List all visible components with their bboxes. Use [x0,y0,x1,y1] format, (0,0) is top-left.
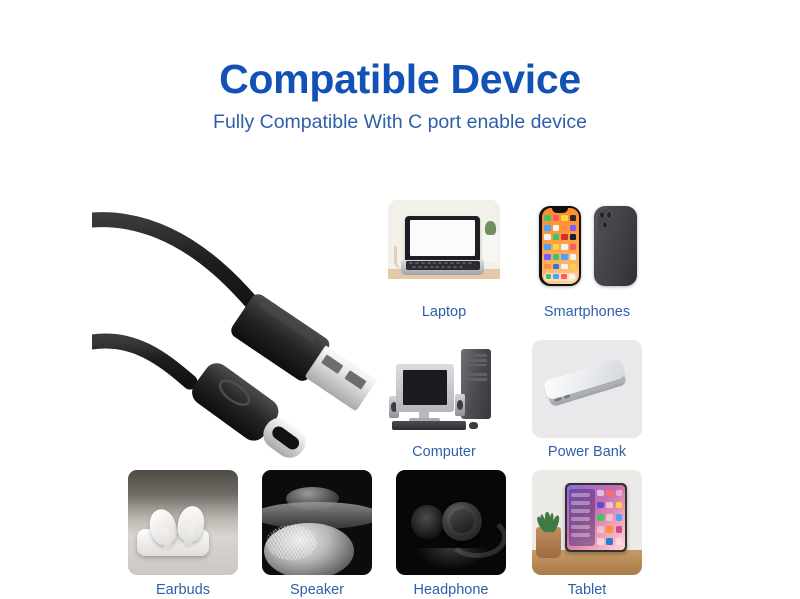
tablet-icon [532,470,642,575]
device-label-headphone: Headphone [376,582,526,598]
power-bank-icon [532,340,642,438]
speaker-icon [262,470,372,575]
device-tile-tablet[interactable]: Tablet [532,470,642,575]
device-tile-earbuds[interactable]: Earbuds [128,470,238,575]
usb-c-cable-image [92,190,382,462]
laptop-icon [388,200,500,296]
earbuds-icon [128,470,238,575]
device-tile-laptop[interactable]: Laptop [388,200,500,296]
device-label-power-bank: Power Bank [512,444,662,460]
device-label-laptop: Laptop [368,304,520,320]
page-title: Compatible Device [0,58,800,101]
device-tile-speaker[interactable]: Speaker [262,470,372,575]
desktop-computer-icon [388,340,500,438]
device-label-computer: Computer [368,444,520,460]
headphone-icon [396,470,506,575]
device-label-smartphones: Smartphones [510,304,664,320]
device-label-tablet: Tablet [512,582,662,598]
device-tile-smartphones[interactable]: Smartphones [530,200,644,296]
smartphone-icon [530,200,644,296]
device-tile-headphone[interactable]: Headphone [396,470,506,575]
page-subtitle: Fully Compatible With C port enable devi… [0,112,800,133]
infographic-canvas: Compatible Device Fully Compatible With … [0,0,800,599]
device-label-speaker: Speaker [242,582,392,598]
device-label-earbuds: Earbuds [108,582,258,598]
device-tile-power-bank[interactable]: Power Bank [532,340,642,438]
device-tile-computer[interactable]: Computer [388,340,500,438]
